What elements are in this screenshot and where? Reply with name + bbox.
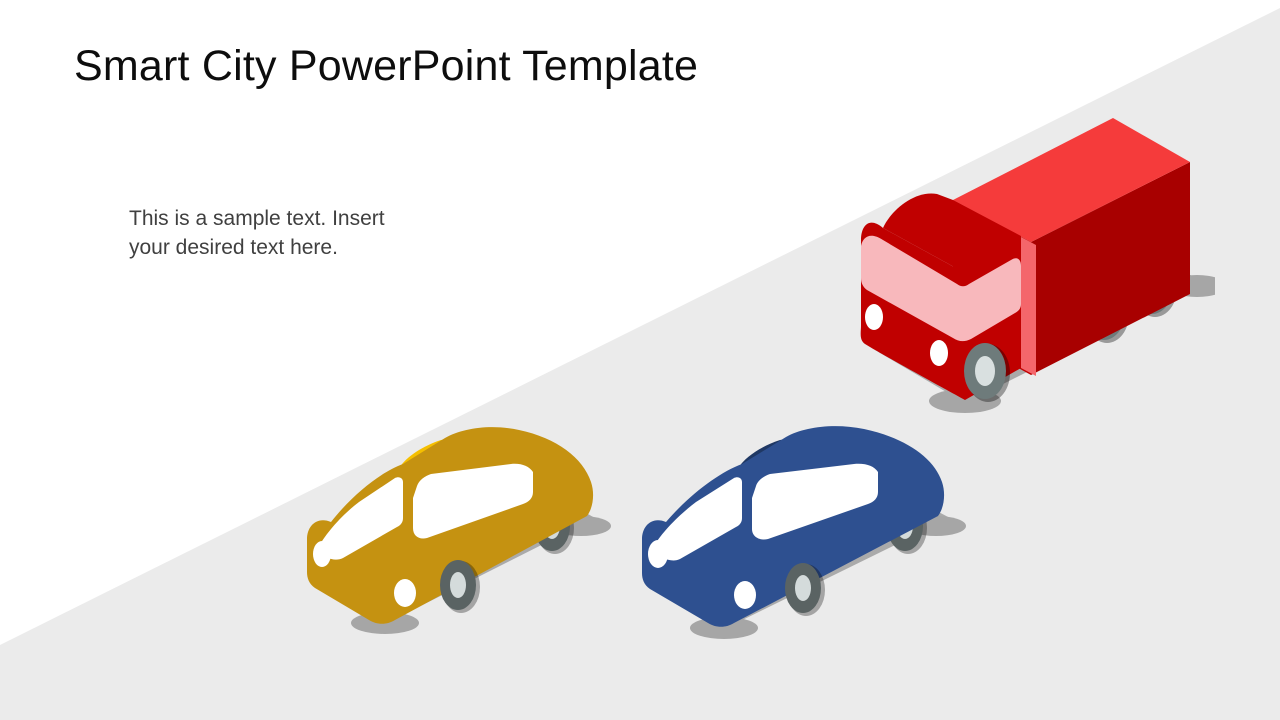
truck-illustration bbox=[845, 118, 1215, 418]
body-text: This is a sample text. Insert your desir… bbox=[129, 204, 399, 262]
car-blue-headlight-left bbox=[648, 540, 668, 568]
truck-divider-strip bbox=[1021, 237, 1036, 376]
car-yellow-headlight-front bbox=[394, 579, 416, 607]
car-yellow-headlight-left bbox=[313, 541, 331, 567]
slide-canvas: Smart City PowerPoint Template This is a… bbox=[0, 0, 1280, 720]
truck-headlight-left bbox=[865, 304, 883, 330]
page-title: Smart City PowerPoint Template bbox=[74, 42, 698, 91]
truck-headlight-front bbox=[930, 340, 948, 366]
car-blue-illustration bbox=[630, 418, 975, 653]
car-blue-headlight-front bbox=[734, 581, 756, 609]
car-yellow-illustration bbox=[295, 420, 615, 650]
